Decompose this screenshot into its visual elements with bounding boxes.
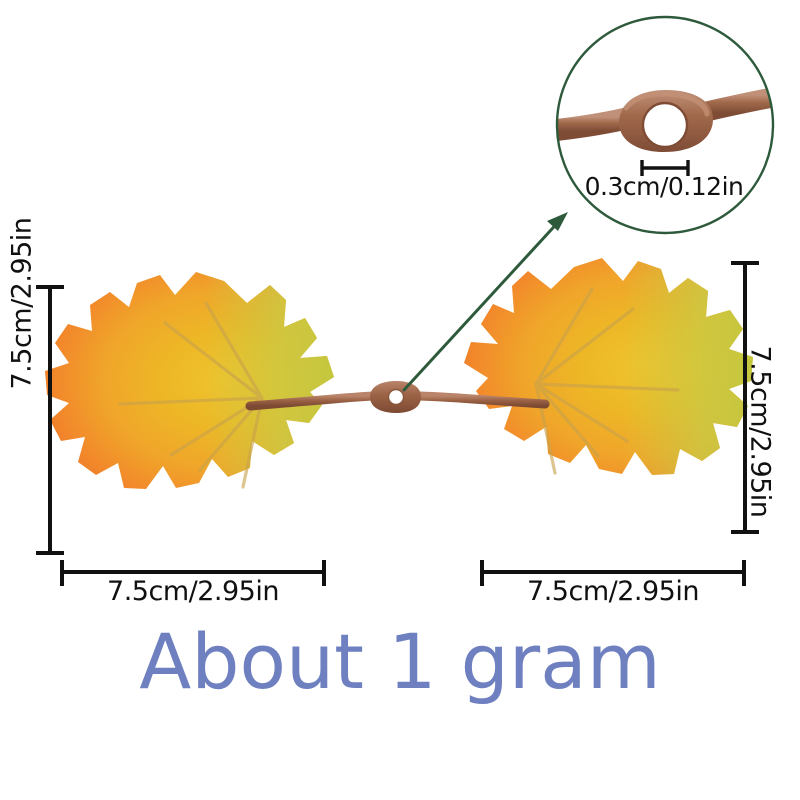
dimension-label-left-height: 7.5cm/2.95in — [7, 346, 38, 390]
left-leaf-green-tint — [45, 272, 334, 489]
dimension-label-right-width: 7.5cm/2.95in — [480, 576, 746, 607]
product-dimension-image: 7.5cm/2.95in 7.5cm/2.95in 7.5cm/2.95in 7… — [0, 0, 800, 800]
right-leaf — [464, 258, 753, 475]
dimension-label-left-width: 7.5cm/2.95in — [60, 576, 326, 607]
callout-detail-label: 0.3cm/0.12in — [560, 172, 768, 201]
dimension-label-right-height: 7.5cm/2.95in — [745, 346, 776, 390]
right-leaf-green-tint — [464, 258, 753, 475]
callout-circle — [548, 15, 786, 237]
left-leaf — [45, 272, 334, 489]
arrow-head — [547, 212, 568, 231]
weight-caption: About 1 gram — [0, 617, 800, 707]
